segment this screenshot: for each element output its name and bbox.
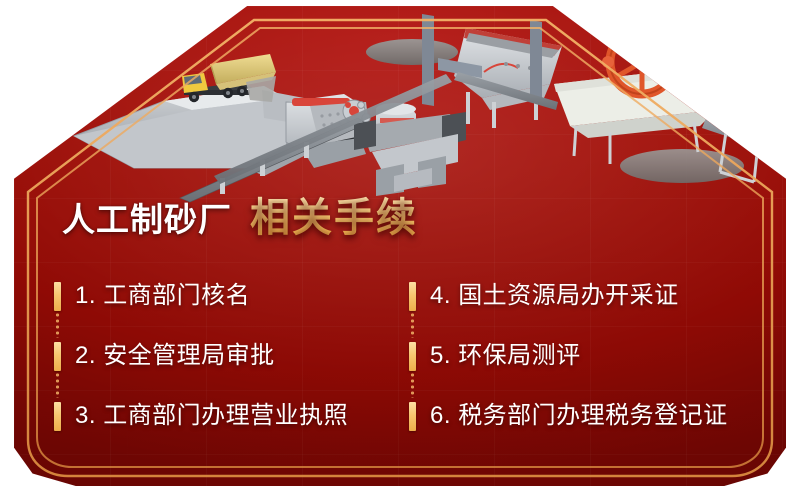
bucket-wheel-sand-washer <box>554 22 726 164</box>
sand-plant-procedures-banner: 人工制砂厂 相关手续 1. 工商部门核名 4. 国土资源局办开采证 2. <box>0 0 800 500</box>
list-item: 6. 税务部门办理税务登记证 <box>409 386 754 446</box>
bullet-bar-icon <box>409 402 416 431</box>
procedure-4-text: 4. 国土资源局办开采证 <box>430 281 679 311</box>
title-main-text: 人工制砂厂 <box>62 200 232 240</box>
procedure-4-label: 国土资源局办开采证 <box>458 282 679 309</box>
procedure-4-number: 4. <box>430 282 451 309</box>
procedure-list: 1. 工商部门核名 4. 国土资源局办开采证 2. 安全管理局审批 5 <box>54 266 754 446</box>
bullet-bar-icon <box>409 342 416 371</box>
aggregate-stockpile-right <box>620 149 744 183</box>
procedure-6-text: 6. 税务部门办理税务登记证 <box>430 401 728 431</box>
procedure-5-label: 环保局测评 <box>458 342 581 369</box>
list-item: 5. 环保局测评 <box>409 326 754 386</box>
procedure-3-text: 3. 工商部门办理营业执照 <box>75 401 348 431</box>
procedure-6-number: 6. <box>430 402 451 429</box>
procedure-1-label: 工商部门核名 <box>103 282 250 309</box>
vibrating-screen <box>422 14 562 128</box>
procedure-3-number: 3. <box>75 402 96 429</box>
procedure-5-number: 5. <box>430 342 451 369</box>
sand-plant-illustration <box>14 6 786 206</box>
dump-truck <box>182 54 276 102</box>
banner-title: 人工制砂厂 相关手续 <box>62 196 418 240</box>
procedure-2-label: 安全管理局审批 <box>103 342 275 369</box>
list-item: 2. 安全管理局审批 <box>54 326 409 386</box>
bullet-bar-icon <box>54 402 61 431</box>
procedure-1-text: 1. 工商部门核名 <box>75 281 250 311</box>
list-item: 3. 工商部门办理营业执照 <box>54 386 409 446</box>
list-item: 4. 国土资源局办开采证 <box>409 266 754 326</box>
procedure-3-label: 工商部门办理营业执照 <box>103 402 348 429</box>
list-item: 1. 工商部门核名 <box>54 266 409 326</box>
bullet-bar-icon <box>54 282 61 311</box>
procedure-5-text: 5. 环保局测评 <box>430 341 581 371</box>
title-accent-text: 相关手续 <box>250 196 418 240</box>
procedure-2-number: 2. <box>75 342 96 369</box>
procedure-1-number: 1. <box>75 282 96 309</box>
procedure-2-text: 2. 安全管理局审批 <box>75 341 275 371</box>
procedure-6-label: 税务部门办理税务登记证 <box>458 402 728 429</box>
bullet-bar-icon <box>54 342 61 371</box>
bullet-bar-icon <box>409 282 416 311</box>
